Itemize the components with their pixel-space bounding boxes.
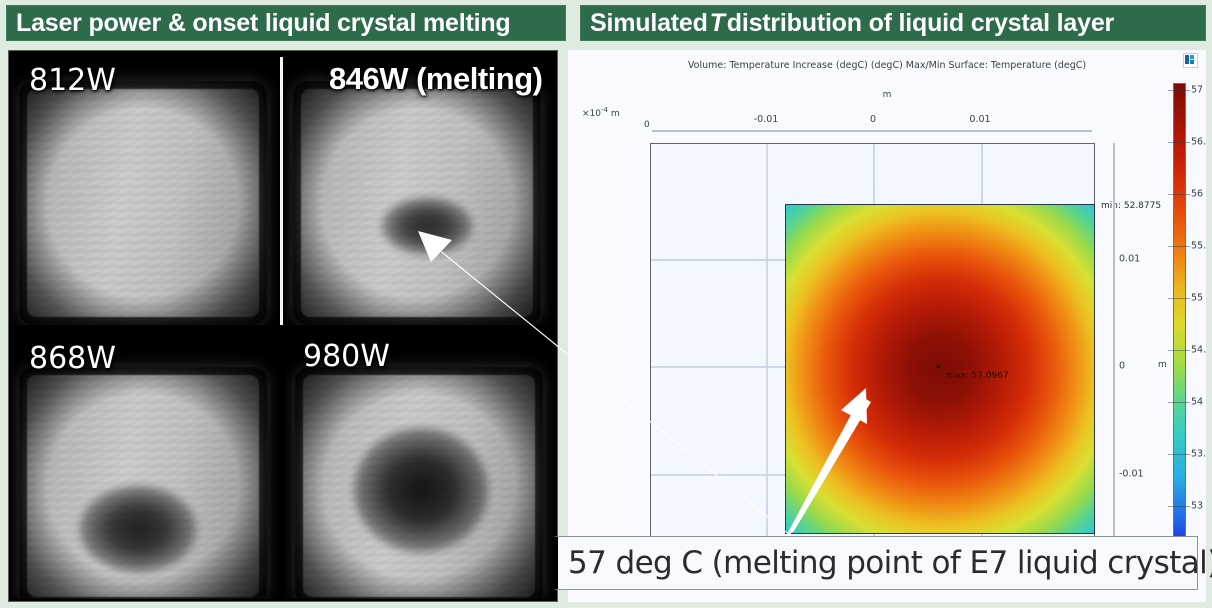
comsol-plot-panel: Volume: Temperature Increase (degC) (deg… (568, 50, 1206, 602)
y-tick-1: 0 (1119, 361, 1125, 372)
colorbar-tick-0: 57 (1191, 85, 1203, 96)
caption-box: 57 deg C (melting point of E7 liquid cry… (553, 536, 1198, 590)
ir-label-846w: 846W (melting) (329, 61, 542, 97)
ir-frame-846w[interactable]: 846W (melting) (285, 53, 555, 325)
ir-sample-868w (27, 375, 259, 597)
ir-sample-812w (27, 89, 259, 317)
ir-image-panel: 812W 846W (melting) 868W 980W 21 x 21 mm… (8, 50, 558, 602)
y-tick-0: 0.01 (1119, 254, 1140, 265)
x-tick-0: -0.01 (754, 114, 779, 125)
panel-title-right-prefix: Simulated (590, 9, 708, 38)
temperature-field-heatmap: max: 57.0967 (785, 204, 1095, 534)
y-axis-unit-label: m (1158, 360, 1167, 370)
plot-title: Volume: Temperature Increase (degC) (deg… (568, 60, 1206, 71)
ir-sample-980w (303, 375, 535, 597)
x-axis-exponent-zero: 0 (644, 120, 650, 130)
x-tick-1: 0 (870, 114, 876, 125)
colorbar-tick-6: 54 (1191, 397, 1203, 408)
colorbar-tick-8: 53 (1191, 501, 1203, 512)
plot-axes-area: max: 57.0967 min: 52.8775 (650, 143, 1095, 588)
ir-frame-812w[interactable]: 812W (11, 53, 279, 325)
min-annotation-label: min: 52.8775 (1101, 201, 1161, 211)
colorbar-tick-2: 56 (1191, 189, 1203, 200)
panel-title-right-italic-T: T (708, 9, 727, 38)
ir-frame-divider (280, 57, 283, 325)
panel-title-left: Laser power & onset liquid crystal melti… (6, 5, 566, 41)
ir-frame-980w[interactable]: 980W (285, 329, 555, 599)
colorbar-tick-1: 56.5 (1191, 137, 1206, 148)
x-tick-2: 0.01 (969, 114, 990, 125)
colorbar (1173, 83, 1186, 549)
colorbar-tick-3: 55.5 (1191, 241, 1206, 252)
panel-title-right-suffix: distribution of liquid crystal layer (727, 9, 1114, 38)
ir-frame-868w[interactable]: 868W (11, 329, 279, 599)
ir-label-812w: 812W (29, 63, 116, 98)
ir-label-980w: 980W (303, 339, 390, 374)
ir-sample-846w (301, 89, 533, 317)
x-axis-line (652, 130, 1092, 132)
y-tick-2: -0.01 (1119, 469, 1144, 480)
colorbar-tick-7: 53.5 (1191, 449, 1206, 460)
caption-text: 57 deg C (melting point of E7 liquid cry… (568, 545, 1212, 581)
ir-label-868w: 868W (29, 341, 116, 376)
colorbar-tick-4: 55 (1191, 293, 1203, 304)
max-annotation-label: max: 57.0967 (946, 371, 1009, 381)
y-axis-line (1113, 143, 1115, 588)
x-axis-unit-label: m (568, 90, 1206, 100)
panel-title-left-text: Laser power & onset liquid crystal melti… (16, 9, 511, 38)
colorbar-tick-5: 54.5 (1191, 345, 1206, 356)
panel-title-right: Simulated T distribution of liquid cryst… (580, 5, 1206, 41)
max-point-marker (937, 365, 940, 368)
x-axis-exponent-label: ×10-4 m (582, 106, 620, 119)
